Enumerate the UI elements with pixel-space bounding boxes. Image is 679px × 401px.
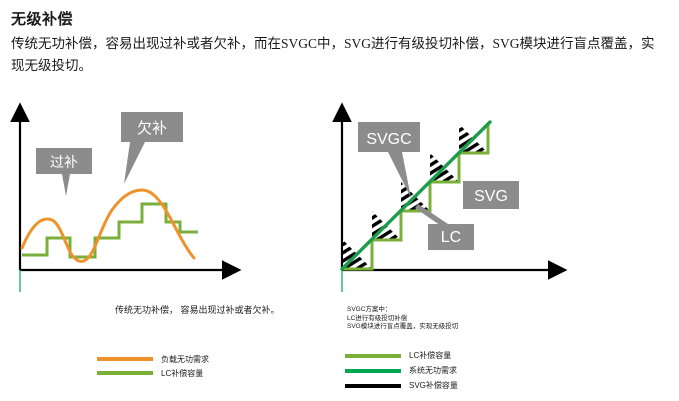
legend-item: LC补偿容量 (345, 348, 458, 363)
callout-lc[interactable]: LC (415, 204, 474, 250)
legend-label-system-demand: 系统无功需求 (409, 365, 457, 376)
legend-swatch-load-demand (97, 357, 153, 361)
legend-swatch-lc-capacity (345, 354, 401, 358)
legend-item: LC补偿容量 (97, 366, 209, 380)
right-chart-caption: SVGC方案中： LC进行有级投切补偿 SVG模块进行盲点覆盖，实现无级投切 (347, 306, 458, 332)
callout-lc-label: LC (441, 229, 461, 246)
legend-swatch-system-demand (345, 369, 401, 373)
left-chart-caption: 传统无功补偿， 容易出现过补或者欠补。 (115, 305, 280, 315)
legend-item: SVG补偿容量 (345, 378, 458, 393)
intro-paragraph: 传统无功补偿，容易出现过补或者欠补，而在SVGC中，SVG进行有级投切补偿，SV… (11, 33, 666, 77)
legend-label-svg-capacity: SVG补偿容量 (409, 380, 458, 391)
left-chart: 过补 欠补 (0, 100, 340, 300)
callout-guobu[interactable]: 过补 (36, 148, 92, 196)
legend-swatch-svg-capacity (345, 384, 401, 388)
page-title: 无级补偿 (11, 8, 73, 29)
right-chart-legend: LC补偿容量 系统无功需求 SVG补偿容量 (345, 348, 458, 393)
legend-label-load-demand: 负载无功需求 (161, 354, 209, 365)
callout-svgc-label: SVGC (366, 131, 411, 148)
legend-label-lc-capacity: LC补偿容量 (161, 368, 203, 379)
callout-svg[interactable]: SVG (463, 181, 519, 209)
legend-swatch-lc-capacity (97, 371, 153, 375)
callout-svgc[interactable]: SVGC (358, 122, 420, 198)
legend-label-lc-capacity: LC补偿容量 (409, 350, 451, 361)
legend-item: 系统无功需求 (345, 363, 458, 378)
callout-qianbu[interactable]: 欠补 (121, 112, 183, 184)
figure-area: 过补 欠补 (0, 100, 679, 401)
callout-guobu-label: 过补 (50, 154, 78, 170)
left-chart-legend: 负载无功需求 LC补偿容量 (97, 352, 209, 380)
left-chart-axes (20, 120, 224, 292)
callout-svg-label: SVG (474, 188, 508, 205)
right-chart: SVGC SVG LC (320, 100, 580, 300)
callout-qianbu-label: 欠补 (137, 120, 167, 137)
legend-item: 负载无功需求 (97, 352, 209, 366)
